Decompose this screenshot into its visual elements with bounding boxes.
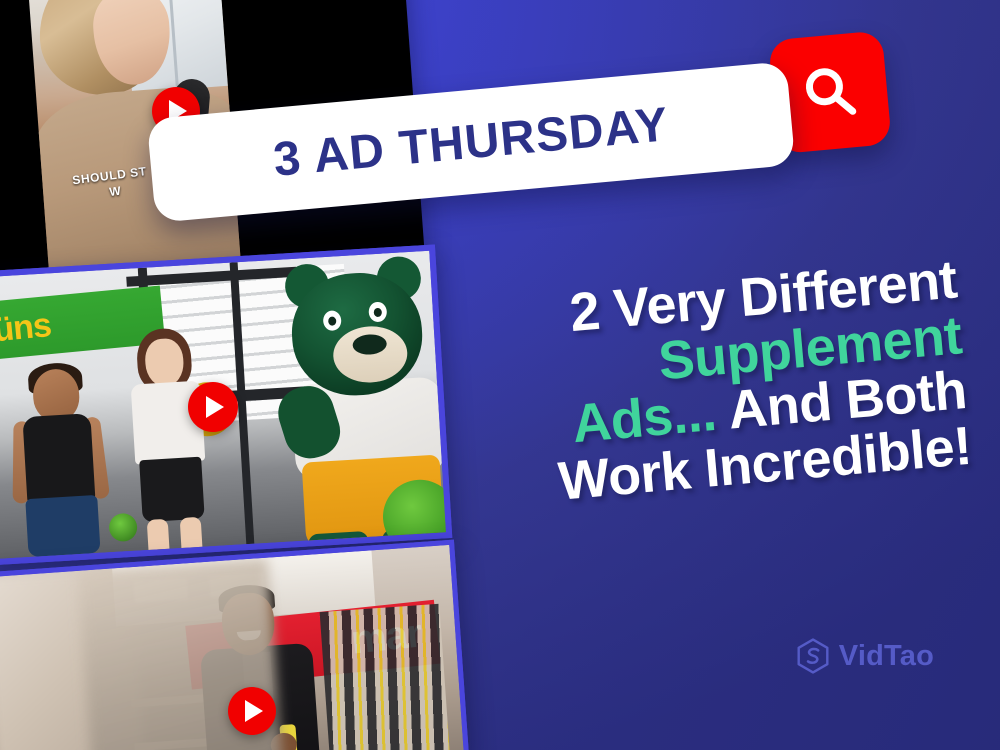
search-icon — [795, 57, 865, 127]
female-shorts — [139, 457, 205, 523]
play-button-icon[interactable] — [228, 687, 276, 735]
headline: 2 Very Different Supplement Ads... And B… — [396, 252, 973, 522]
gruns-banner-text: rüns — [0, 306, 53, 351]
gym-person-male — [6, 366, 114, 559]
search-title-text: 3 AD THURSDAY — [271, 97, 671, 188]
male-tank-top — [22, 413, 95, 503]
caption-line-2: W — [108, 184, 122, 199]
brand-name: VidTao — [839, 640, 934, 673]
male-shorts — [25, 495, 100, 557]
play-button-icon[interactable] — [188, 382, 238, 432]
female-legs — [147, 517, 204, 559]
brand-logo[interactable]: VidTao — [796, 638, 934, 674]
store-product-aisle — [320, 604, 451, 750]
hexagon-monogram-icon — [796, 638, 830, 674]
thumbnail-canvas: SHOULD ST W rüns — [0, 0, 1000, 750]
